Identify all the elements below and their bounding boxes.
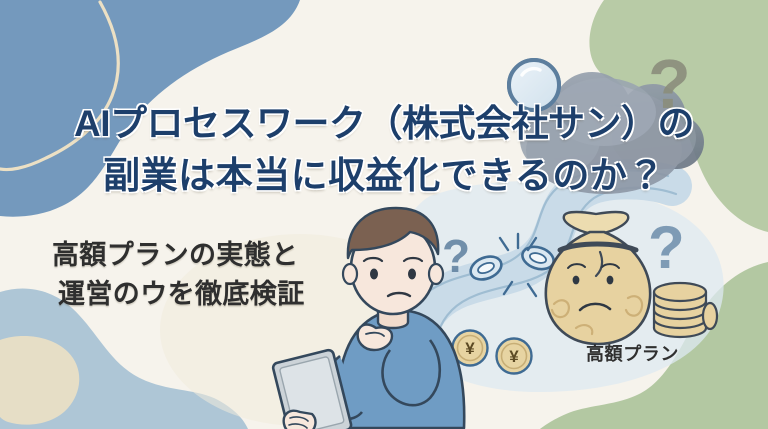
cloud-magnifier-group: ? [0, 0, 768, 429]
blog-thumbnail-banner: ¥ ¥ ? [0, 0, 768, 429]
question-mark-large: ? [648, 45, 691, 123]
